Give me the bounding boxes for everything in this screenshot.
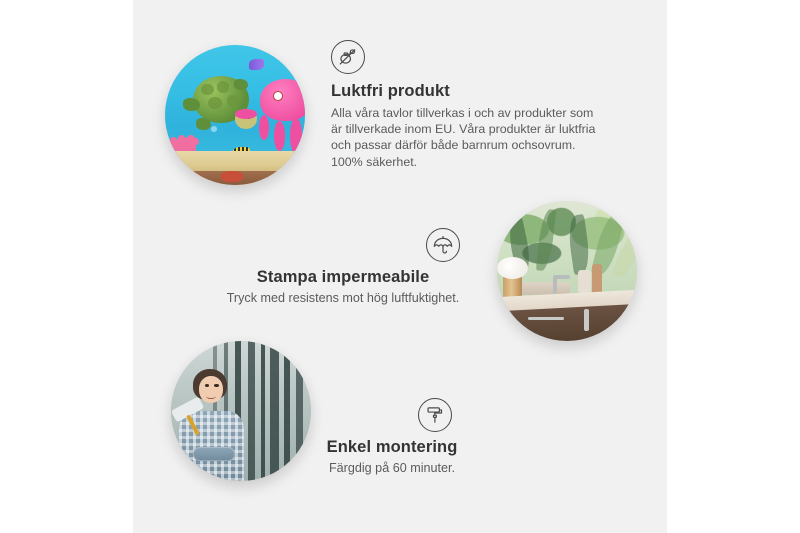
feature-image-odor-free: [165, 45, 305, 185]
feature-title: Stampa impermeabile: [190, 268, 496, 287]
feature-title: Enkel montering: [262, 438, 522, 457]
feature-block-easy-mounting: Enkel montering Färgdig på 60 minuter.: [262, 398, 522, 476]
promo-banner: Luktfri produkt Alla våra tavlor tillver…: [0, 0, 800, 533]
feature-body: Färgdig på 60 minuter.: [262, 460, 522, 476]
feature-block-odor-free: Luktfri produkt Alla våra tavlor tillver…: [331, 40, 621, 170]
feature-image-waterproof: [497, 201, 637, 341]
feature-body: Tryck med resistens mot hög luftfuktighe…: [190, 290, 496, 306]
umbrella-icon: [426, 228, 460, 262]
feature-block-waterproof: Stampa impermeabile Tryck med resistens …: [190, 228, 496, 306]
feature-body: Alla våra tavlor tillverkas i och av pro…: [331, 105, 607, 170]
paint-roller-icon: [418, 398, 452, 432]
feature-title: Luktfri produkt: [331, 82, 621, 101]
no-odor-perfume-bottle-icon: [331, 40, 365, 74]
